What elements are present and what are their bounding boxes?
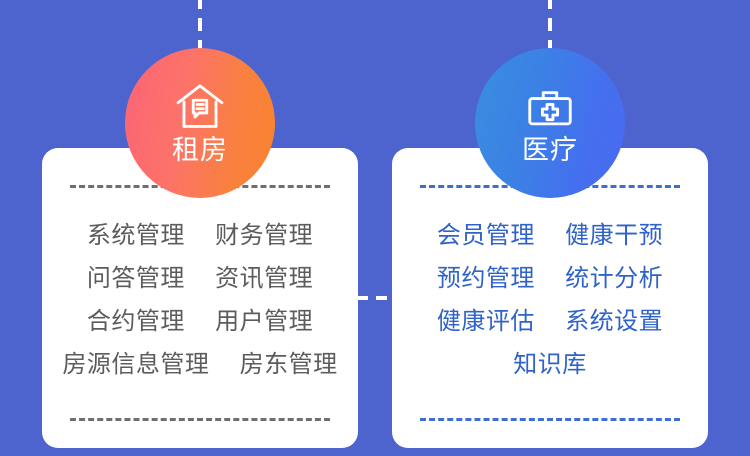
card-divider-bottom [70,418,330,421]
medical-kit-icon [523,80,577,134]
menu-item-news-management[interactable]: 资讯管理 [215,264,313,292]
menu-item-system-settings[interactable]: 系统设置 [565,307,663,335]
menu-row: 问答管理 资讯管理 [50,257,350,300]
category-bubble-label: 医疗 [522,136,578,166]
card-connector-dashes [357,296,393,300]
menu-item-health-assessment[interactable]: 健康评估 [437,307,535,335]
menu-item-member-management[interactable]: 会员管理 [437,221,535,249]
menu-item-appointment-management[interactable]: 预约管理 [437,264,535,292]
module-menu-list-rent: 系统管理 财务管理 问答管理 资讯管理 合约管理 用户管理 房源信息管理 房东管… [50,214,350,386]
menu-row: 合约管理 用户管理 [50,300,350,343]
module-menu-list-medical: 会员管理 健康干预 预约管理 统计分析 健康评估 系统设置 知识库 [400,214,700,386]
menu-row: 知识库 [400,343,700,386]
category-bubble-label: 租房 [172,136,228,166]
menu-row: 健康评估 系统设置 [400,300,700,343]
menu-item-knowledge-base[interactable]: 知识库 [513,350,587,378]
menu-item-statistical-analysis[interactable]: 统计分析 [565,264,663,292]
connector-stem-medical [548,0,552,52]
menu-item-health-intervention[interactable]: 健康干预 [565,221,663,249]
menu-item-qa-management[interactable]: 问答管理 [87,264,185,292]
house-icon [173,80,227,134]
menu-row: 系统管理 财务管理 [50,214,350,257]
menu-item-user-management[interactable]: 用户管理 [215,307,313,335]
category-bubble-rent[interactable]: 租房 [125,48,275,198]
menu-item-finance-management[interactable]: 财务管理 [215,221,313,249]
category-bubble-medical[interactable]: 医疗 [475,48,625,198]
menu-item-listing-info-management[interactable]: 房源信息管理 [62,350,209,378]
menu-item-contract-management[interactable]: 合约管理 [87,307,185,335]
menu-item-system-management[interactable]: 系统管理 [87,221,185,249]
infographic-stage: 系统管理 财务管理 问答管理 资讯管理 合约管理 用户管理 房源信息管理 房东管… [0,0,750,456]
card-divider-bottom [420,418,680,421]
connector-stem-rent [198,0,202,52]
menu-item-landlord-management[interactable]: 房东管理 [240,350,338,378]
menu-row: 房源信息管理 房东管理 [50,343,350,386]
menu-row: 会员管理 健康干预 [400,214,700,257]
menu-row: 预约管理 统计分析 [400,257,700,300]
